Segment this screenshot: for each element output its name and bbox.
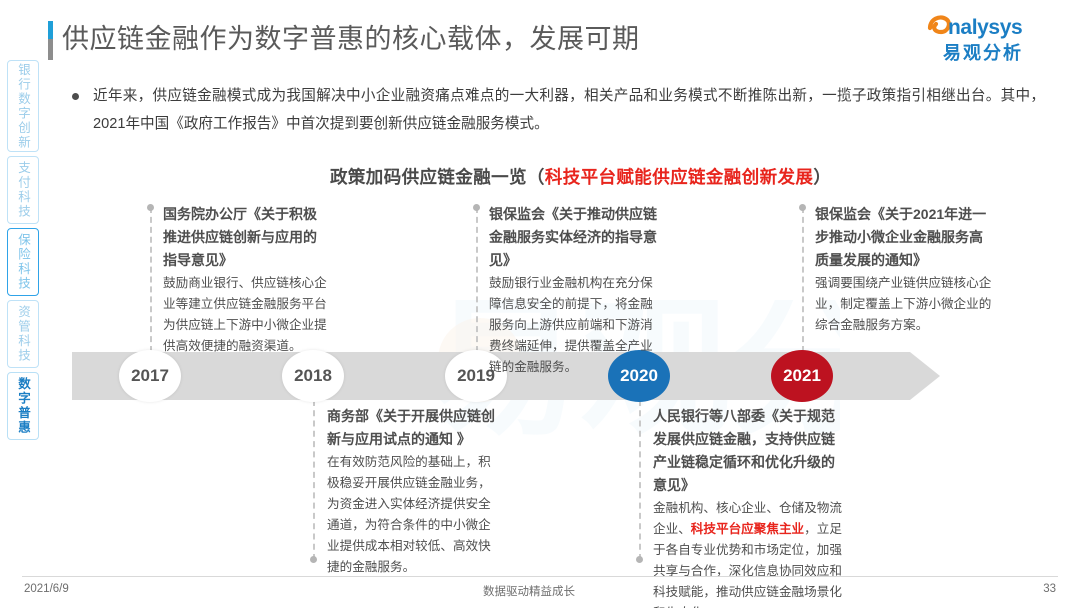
section-heading-tail: ） (813, 167, 831, 187)
connector-line-2018 (313, 400, 315, 560)
policy-block-2018: 商务部《关于开展供应链创新与应用试点的通知 》 在有效防范风险的基础上，积极稳妥… (327, 405, 495, 578)
intro-paragraph: 近年来，供应链金融模式成为我国解决中小企业融资痛点难点的一大利器，相关产品和业务… (93, 82, 1045, 138)
connector-line-2020 (639, 400, 641, 560)
footer-date: 2021/6/9 (24, 583, 69, 595)
bullet-dot-icon (72, 93, 79, 100)
timeline-year-2021[interactable]: 2021 (771, 350, 833, 402)
policy-block-title: 银保监会《关于推动供应链金融服务实体经济的指导意见》 (489, 203, 657, 272)
connector-line-2021 (802, 207, 804, 352)
intro-bullet-row: 近年来，供应链金融模式成为我国解决中小企业融资痛点难点的一大利器，相关产品和业务… (72, 82, 1058, 138)
policy-block-body: 鼓励银行业金融机构在充分保障信息安全的前提下，将金融服务向上游供应前端和下游消费… (489, 273, 657, 378)
policy-block-title: 国务院办公厅《关于积极推进供应链创新与应用的指导意见》 (163, 203, 328, 272)
policy-block-2021: 银保监会《关于2021年进一步推动小微企业金融服务高质量发展的通知》 强调要围绕… (815, 203, 995, 336)
footer-divider (22, 576, 1058, 577)
sidebar-item-insurance-tech[interactable]: 保险科技 (7, 228, 39, 296)
analysys-logo: nalysys 易观分析 (926, 10, 1048, 64)
analysys-wordmark: nalysys (926, 12, 1048, 40)
connector-line-2017 (150, 207, 152, 352)
section-heading-black: 政策加码供应链金融一览（ (330, 167, 545, 187)
title-accent-bar (48, 21, 53, 60)
policy-body-highlight: 科技平台应聚焦主业 (691, 522, 804, 536)
sidebar-item-digital-inclusion[interactable]: 数字普惠 (7, 372, 39, 440)
sidebar: 银行数字创新 支付科技 保险科技 资管科技 数字普惠 (7, 60, 39, 440)
policy-block-body: 强调要围绕产业链供应链核心企业，制定覆盖上下游小微企业的综合金融服务方案。 (815, 273, 995, 336)
policy-block-title: 人民银行等八部委《关于规范发展供应链金融，支持供应链产业链稳定循环和优化升级的意… (653, 405, 843, 497)
policy-block-body: 鼓励商业银行、供应链核心企业等建立供应链金融服务平台为供应链上下游中小微企业提供… (163, 273, 328, 357)
policy-block-2019: 银保监会《关于推动供应链金融服务实体经济的指导意见》 鼓励银行业金融机构在充分保… (489, 203, 657, 378)
sidebar-item-asset-management-tech[interactable]: 资管科技 (7, 300, 39, 368)
page-title: 供应链金融作为数字普惠的核心载体，发展可期 (62, 17, 640, 61)
connector-line-2019 (476, 207, 478, 352)
svg-text:nalysys: nalysys (948, 16, 1022, 39)
year-label: 2018 (294, 366, 332, 386)
section-heading: 政策加码供应链金融一览（科技平台赋能供应链金融创新发展） (330, 164, 831, 189)
connector-dot-2018 (310, 556, 317, 563)
footer-tagline: 数据驱动精益成长 (483, 583, 575, 599)
sidebar-item-label: 银行数字创新 (15, 63, 31, 150)
slide-canvas: 易观分析 供应链金融作为数字普惠的核心载体，发展可期 nalysys 易观分析 … (0, 0, 1080, 608)
sidebar-item-label: 保险科技 (15, 233, 31, 291)
sidebar-item-label: 支付科技 (15, 161, 31, 219)
sidebar-item-label: 数字普惠 (15, 377, 31, 435)
connector-dot-2021 (799, 204, 806, 211)
policy-block-body: 金融机构、核心企业、仓储及物流企业、科技平台应聚焦主业，立足于各自专业优势和市场… (653, 498, 843, 608)
logo-chinese-text: 易观分析 (943, 39, 1023, 65)
year-label: 2017 (131, 366, 169, 386)
policy-block-title: 商务部《关于开展供应链创新与应用试点的通知 》 (327, 405, 495, 451)
timeline-year-2017[interactable]: 2017 (119, 350, 181, 402)
section-heading-red: 科技平台赋能供应链金融创新发展 (545, 167, 814, 187)
year-label: 2021 (783, 366, 821, 386)
connector-dot-2017 (147, 204, 154, 211)
policy-block-2017: 国务院办公厅《关于积极推进供应链创新与应用的指导意见》 鼓励商业银行、供应链核心… (163, 203, 328, 357)
policy-block-2020: 人民银行等八部委《关于规范发展供应链金融，支持供应链产业链稳定循环和优化升级的意… (653, 405, 843, 608)
policy-block-body: 在有效防范风险的基础上，积极稳妥开展供应链金融业务，为资金进入实体经济提供安全通… (327, 452, 495, 578)
sidebar-item-label: 资管科技 (15, 305, 31, 363)
connector-dot-2020 (636, 556, 643, 563)
sidebar-item-payment-tech[interactable]: 支付科技 (7, 156, 39, 224)
timeline-year-2018[interactable]: 2018 (282, 350, 344, 402)
connector-dot-2019 (473, 204, 480, 211)
sidebar-item-bank-digital-innovation[interactable]: 银行数字创新 (7, 60, 39, 152)
footer-page-number: 33 (1043, 583, 1056, 595)
policy-block-title: 银保监会《关于2021年进一步推动小微企业金融服务高质量发展的通知》 (815, 203, 995, 272)
